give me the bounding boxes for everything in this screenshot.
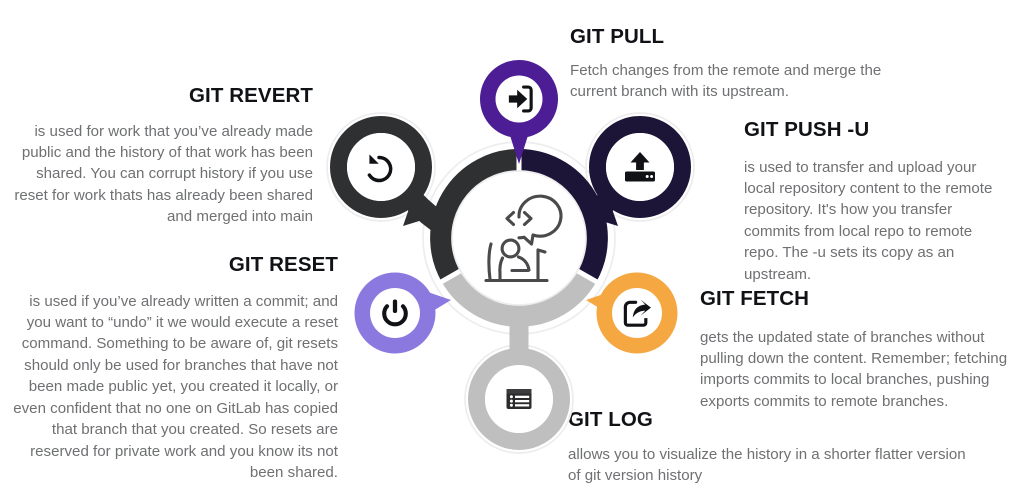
heading-git-push: GIT PUSH -U <box>744 119 1006 142</box>
git-commands-wheel <box>318 42 718 462</box>
node-face-revert <box>347 133 415 201</box>
node-git-push[interactable] <box>592 125 683 227</box>
heading-git-reset: GIT RESET <box>8 254 338 277</box>
heading-git-fetch: GIT FETCH <box>700 288 1012 311</box>
text-block-git-fetch: GIT FETCH gets the updated state of bran… <box>700 288 1012 412</box>
node-git-pull[interactable] <box>488 68 550 164</box>
text-block-git-push: GIT PUSH -U is used to transfer and uplo… <box>744 119 1006 285</box>
node-git-revert[interactable] <box>339 125 430 227</box>
node-git-log[interactable] <box>477 357 562 442</box>
infographic-canvas: GIT PULL Fetch changes from the remote a… <box>0 0 1030 502</box>
body-git-push: is used to transfer and upload your loca… <box>744 157 1006 286</box>
body-git-revert: is used for work that you’ve already mad… <box>8 121 313 228</box>
text-block-git-revert: GIT REVERT is used for work that you’ve … <box>8 85 313 228</box>
body-git-reset: is used if you’ve already written a comm… <box>8 291 338 484</box>
text-block-git-reset: GIT RESET is used if you’ve already writ… <box>8 254 338 483</box>
body-git-fetch: gets the updated state of branches witho… <box>700 327 1012 413</box>
heading-git-revert: GIT REVERT <box>8 85 313 108</box>
list-log-icon <box>507 389 532 409</box>
